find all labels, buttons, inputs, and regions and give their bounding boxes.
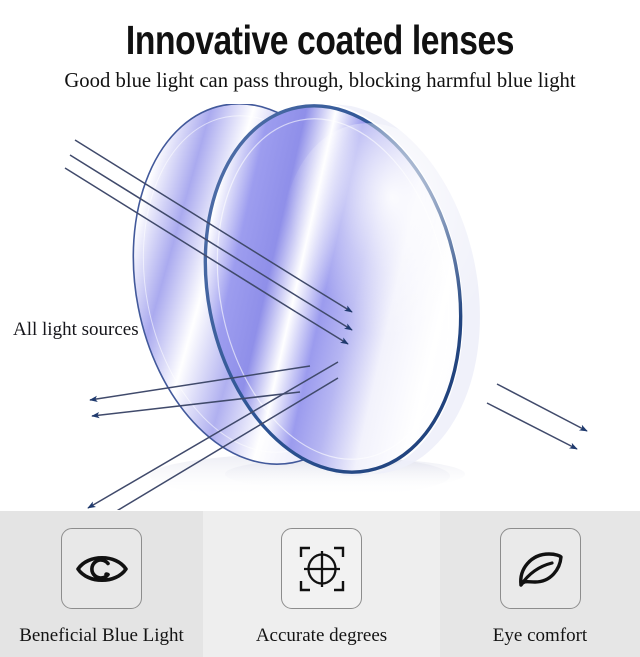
lens-diagram: All light sources Beneficial Blue Light … (0, 104, 640, 510)
header: Innovative coated lenses Good blue light… (0, 0, 640, 92)
crosshair-icon (298, 545, 346, 593)
feature-bands: Beneficial Blue Light Accurate degrees (0, 511, 640, 657)
feature-label: Accurate degrees (256, 625, 387, 647)
leaf-icon (515, 547, 565, 591)
ray-exit-1 (497, 384, 587, 431)
product-infographic: Innovative coated lenses Good blue light… (0, 0, 640, 657)
lens-diagram-svg (0, 104, 640, 510)
eye-icon-box (61, 528, 142, 609)
feature-item-beneficial-blue-light[interactable]: Beneficial Blue Light (0, 511, 203, 657)
page-title: Innovative coated lenses (58, 18, 583, 62)
feature-label: Beneficial Blue Light (19, 625, 184, 647)
feature-item-accurate-degrees[interactable]: Accurate degrees (203, 511, 440, 657)
feature-item-eye-comfort[interactable]: Eye comfort (440, 511, 640, 657)
ray-exit-2 (487, 403, 577, 449)
crosshair-icon-box (281, 528, 362, 609)
exiting-rays (487, 384, 587, 449)
feature-label: Eye comfort (493, 625, 587, 647)
eye-icon (75, 549, 129, 589)
leaf-icon-box (500, 528, 581, 609)
page-subtitle: Good blue light can pass through, blocki… (5, 68, 635, 92)
label-all-light-sources: All light sources (13, 319, 139, 341)
